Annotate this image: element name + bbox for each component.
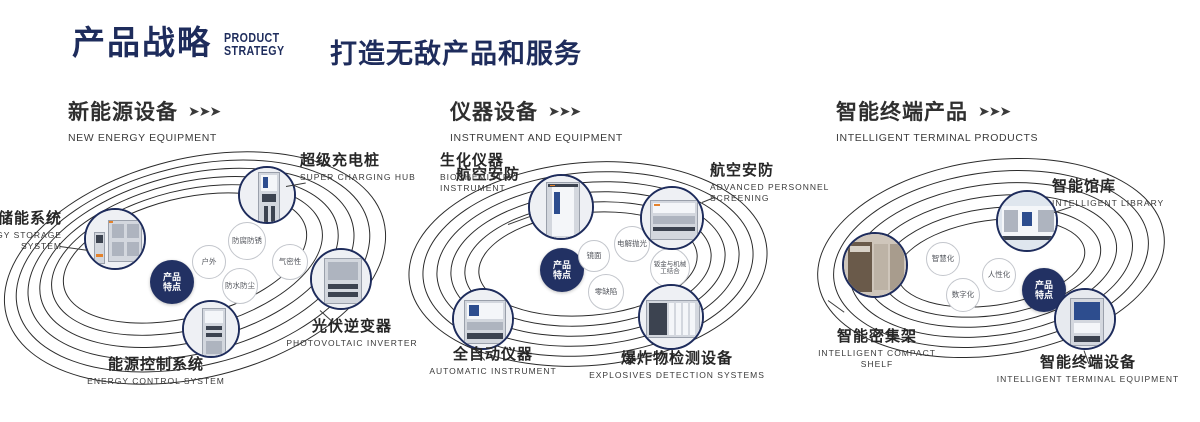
product-node-energy-storage[interactable] — [84, 208, 146, 270]
section-title-text: 智能终端产品 — [836, 96, 968, 126]
section-title-en: INSTRUMENT AND EQUIPMENT — [450, 132, 623, 144]
product-node-compact-shelf[interactable] — [842, 232, 908, 298]
label-cn: 能源控制系统 — [56, 356, 256, 373]
section-heading-new-energy: 新能源设备 ➤➤➤ NEW ENERGY EQUIPMENT — [68, 96, 220, 144]
product-node-energy-control[interactable] — [182, 300, 240, 358]
core-line1: 产品 — [553, 260, 571, 270]
section-title-en: INTELLIGENT TERMINAL PRODUCTS — [836, 132, 1038, 144]
node-label-explosives-detection: 爆炸物检测设备 EXPLOSIVES DETECTION SYSTEMS — [562, 350, 792, 381]
feature-label: 防水防尘 — [225, 282, 255, 290]
core-line2: 特点 — [1035, 290, 1053, 300]
section-heading-intelligent-terminal: 智能终端产品 ➤➤➤ INTELLIGENT TERMINAL PRODUCTS — [836, 96, 1038, 144]
feature-label: 镜面 — [587, 252, 602, 260]
node-label-energy-storage: 储能系统 ENERGY STORAGE SYSTEM — [0, 210, 62, 252]
label-en: INTELLIGENT LIBRARY — [1052, 198, 1192, 209]
terminal-kiosk-icon — [1056, 290, 1114, 348]
feature-bubble: 数字化 — [946, 278, 980, 312]
control-cabinet-icon — [184, 302, 238, 356]
core-badge: 产品 特点 — [150, 260, 194, 304]
label-en: ENERGY STORAGE SYSTEM — [0, 230, 62, 251]
title-cn: 产品战略 — [72, 26, 212, 59]
feature-label: 数字化 — [952, 291, 975, 299]
feature-label: 户外 — [202, 258, 217, 266]
node-label-biochemistry-instrument: 生化仪器 BIOCHEMISTRY INSTRUMENT — [440, 152, 590, 194]
product-node-advanced-personnel-screening[interactable] — [640, 186, 704, 250]
feature-label: 气密性 — [279, 258, 302, 266]
poster-canvas: 产品战略 PRODUCT STRATEGY 打造无敌产品和服务 新能源设备 ➤➤… — [0, 0, 1200, 422]
feature-bubble: 防腐防锈 — [228, 222, 266, 260]
product-node-super-charging-hub[interactable] — [238, 166, 296, 224]
cluster-instrument: 产品 特点 镜面 电解抛光 钣金与机械工结合 零缺陷 — [400, 150, 800, 400]
feature-bubble: 镜面 — [578, 240, 610, 272]
node-label-terminal-kiosk: 智能终端设备 INTELLIGENT TERMINAL EQUIPMENT — [976, 354, 1200, 385]
core-line1: 产品 — [1035, 280, 1053, 290]
charging-pile-icon — [240, 168, 294, 222]
explosives-detector-icon — [640, 286, 702, 348]
feature-bubble: 智慧化 — [926, 242, 960, 276]
feature-label: 人性化 — [988, 271, 1011, 279]
section-title-text: 新能源设备 — [68, 96, 178, 126]
feature-label: 智慧化 — [932, 255, 955, 263]
chevron-right-icon: ➤➤➤ — [188, 103, 220, 120]
page-subtitle: 打造无敌产品和服务 — [330, 32, 582, 71]
label-en: ENERGY CONTROL SYSTEM — [56, 376, 256, 387]
label-en: INTELLIGENT COMPACT SHELF — [782, 348, 972, 369]
node-label-smart-library: 智能馆库 INTELLIGENT LIBRARY — [1052, 178, 1192, 209]
smart-library-icon — [998, 192, 1056, 250]
feature-bubble: 钣金与机械工结合 — [650, 248, 690, 288]
label-en: INTELLIGENT TERMINAL EQUIPMENT — [976, 374, 1200, 385]
chevron-right-icon: ➤➤➤ — [548, 103, 580, 120]
chevron-right-icon: ➤➤➤ — [978, 103, 1010, 120]
core-line2: 特点 — [553, 270, 571, 280]
cluster-intelligent-terminal: 产品 特点 智慧化 人性化 数字化 智能馆库 INTELLIGENT — [800, 150, 1200, 400]
label-cn: 智能终端设备 — [976, 354, 1200, 371]
feature-bubble: 防水防尘 — [222, 268, 258, 304]
product-node-pv-inverter[interactable] — [310, 248, 372, 310]
section-title-cn: 智能终端产品 ➤➤➤ — [836, 96, 1038, 126]
label-cn: 智能馆库 — [1052, 178, 1192, 195]
label-en: AUTOMATIC INSTRUMENT — [398, 366, 588, 377]
title-en: PRODUCT STRATEGY — [224, 31, 285, 57]
section-title-cn: 仪器设备 ➤➤➤ — [450, 96, 623, 126]
section-heading-instrument: 仪器设备 ➤➤➤ INSTRUMENT AND EQUIPMENT — [450, 96, 623, 144]
feature-label: 零缺陷 — [595, 288, 618, 296]
label-en: BIOCHEMISTRY INSTRUMENT — [440, 172, 590, 193]
product-node-terminal-kiosk[interactable] — [1054, 288, 1116, 350]
core-line2: 特点 — [163, 282, 181, 292]
compact-shelf-icon — [844, 234, 906, 296]
feature-bubble: 零缺陷 — [588, 274, 624, 310]
page-title: 产品战略 PRODUCT STRATEGY — [72, 26, 298, 59]
node-label-automatic-instrument: 全自动仪器 AUTOMATIC INSTRUMENT — [398, 346, 588, 377]
label-cn: 储能系统 — [0, 210, 62, 227]
node-label-compact-shelf: 智能密集架 INTELLIGENT COMPACT SHELF — [782, 328, 972, 370]
product-node-explosives-detection[interactable] — [638, 284, 704, 350]
feature-bubble: 气密性 — [272, 244, 308, 280]
cluster-new-energy: 产品 特点 户外 防腐防锈 气密性 防水防尘 — [0, 150, 420, 400]
feature-bubble: 人性化 — [982, 258, 1016, 292]
core-line1: 产品 — [163, 272, 181, 282]
section-title-text: 仪器设备 — [450, 96, 538, 126]
screening-machine-icon — [642, 188, 702, 248]
pv-inverter-icon — [312, 250, 370, 308]
product-node-smart-library[interactable] — [996, 190, 1058, 252]
energy-storage-cabinet-icon — [86, 210, 144, 268]
automatic-instrument-icon — [454, 290, 512, 348]
section-title-en: NEW ENERGY EQUIPMENT — [68, 132, 220, 144]
node-label-energy-control: 能源控制系统 ENERGY CONTROL SYSTEM — [56, 356, 256, 387]
label-cn: 智能密集架 — [782, 328, 972, 345]
feature-label: 钣金与机械工结合 — [651, 261, 689, 275]
label-cn: 生化仪器 — [440, 152, 590, 169]
label-cn: 全自动仪器 — [398, 346, 588, 363]
label-cn: 爆炸物检测设备 — [562, 350, 792, 367]
feature-bubble: 户外 — [192, 245, 226, 279]
product-node-automatic-instrument[interactable] — [452, 288, 514, 350]
title-en-line2: STRATEGY — [224, 44, 285, 57]
label-en: EXPLOSIVES DETECTION SYSTEMS — [562, 370, 792, 381]
feature-label: 防腐防锈 — [232, 237, 262, 245]
section-title-cn: 新能源设备 ➤➤➤ — [68, 96, 220, 126]
